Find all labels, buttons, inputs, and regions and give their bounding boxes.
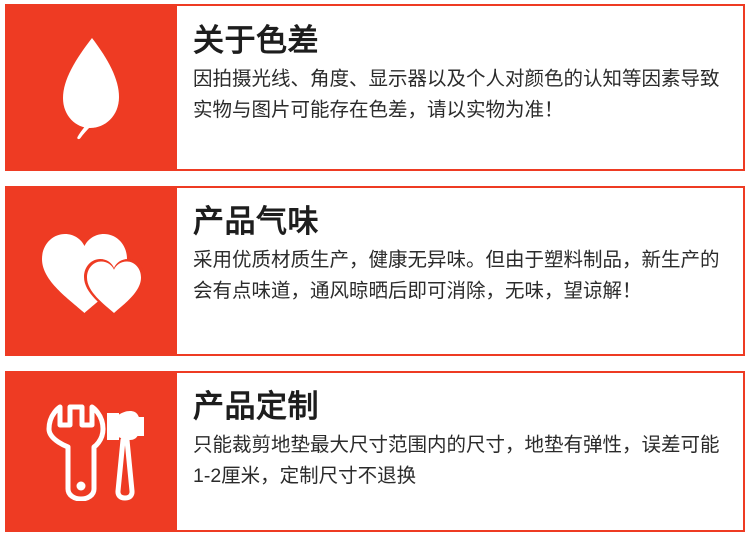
- info-panel-customization: 产品定制 只能裁剪地垫最大尺寸范围内的尺寸，地垫有弹性，误差可能1-2厘米，定制…: [5, 371, 745, 532]
- panel-title: 产品定制: [193, 389, 729, 426]
- panel-icon-container: [7, 188, 177, 354]
- panel-content: 关于色差 因拍摄光线、角度、显示器以及个人对颜色的认知等因素导致实物与图片可能存…: [177, 6, 743, 169]
- panel-description: 因拍摄光线、角度、显示器以及个人对颜色的认知等因素导致实物与图片可能存在色差，请…: [193, 64, 729, 126]
- panel-content: 产品气味 采用优质材质生产，健康无异味。但由于塑料制品，新生产的会有点味道，通风…: [177, 188, 743, 354]
- panel-description: 只能裁剪地垫最大尺寸范围内的尺寸，地垫有弹性，误差可能1-2厘米，定制尺寸不退换: [193, 430, 729, 492]
- panel-description: 采用优质材质生产，健康无异味。但由于塑料制品，新生产的会有点味道，通风晾晒后即可…: [193, 245, 729, 307]
- panel-title: 产品气味: [193, 204, 729, 241]
- double-heart-icon: [36, 224, 148, 318]
- panel-icon-container: [7, 373, 177, 530]
- panel-content: 产品定制 只能裁剪地垫最大尺寸范围内的尺寸，地垫有弹性，误差可能1-2厘米，定制…: [177, 373, 743, 530]
- info-panels-page: 关于色差 因拍摄光线、角度、显示器以及个人对颜色的认知等因素导致实物与图片可能存…: [0, 0, 750, 543]
- info-panel-color-difference: 关于色差 因拍摄光线、角度、显示器以及个人对颜色的认知等因素导致实物与图片可能存…: [5, 4, 745, 171]
- panel-icon-container: [7, 6, 177, 169]
- leaf-icon: [55, 36, 129, 140]
- panel-title: 关于色差: [193, 23, 729, 60]
- info-panel-product-odor: 产品气味 采用优质材质生产，健康无异味。但由于塑料制品，新生产的会有点味道，通风…: [5, 186, 745, 356]
- wrench-hammer-icon: [39, 403, 145, 501]
